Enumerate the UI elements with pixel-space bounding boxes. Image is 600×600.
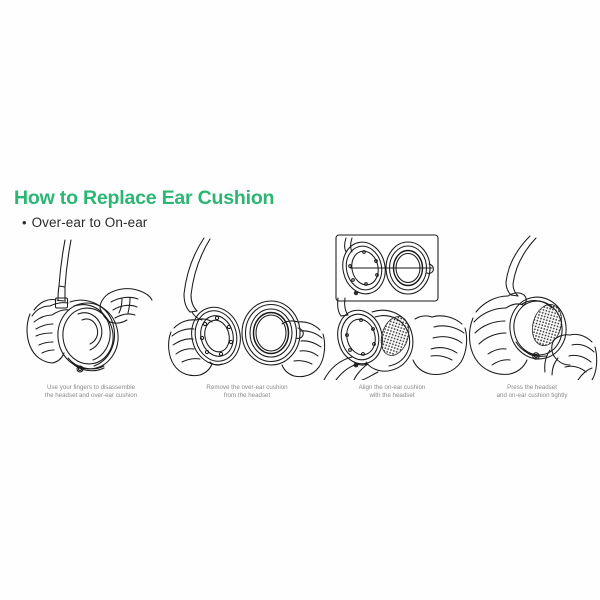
step-1-caption: Use your fingers to disassemble the head… (12, 384, 170, 401)
step-1: Use your fingers to disassemble the head… (12, 232, 170, 422)
step-2-caption-line-2: from the headset (168, 392, 326, 400)
page-canvas: How to Replace Ear Cushion • Over-ear to… (0, 0, 600, 600)
steps-row: Use your fingers to disassemble the head… (0, 232, 600, 422)
inset-detail (336, 235, 438, 301)
step-2-caption-line-1: Remove the over-ear cushion (168, 384, 326, 392)
step-2-caption: Remove the over-ear cushion from the hea… (168, 384, 326, 401)
step-2: Remove the over-ear cushion from the hea… (168, 232, 326, 422)
step-4-caption-line-2: and on-ear cushion tightly (466, 392, 598, 400)
step-4-caption-line-1: Press the headset (466, 384, 598, 392)
bullet-item-over-ear-to-on-ear: • Over-ear to On-ear (22, 215, 147, 230)
bullet-dot-icon: • (22, 216, 27, 229)
step-4-caption: Press the headset and on-ear cushion tig… (466, 384, 598, 401)
step-3-caption-line-1: Align the on-ear cushion (316, 384, 468, 392)
step-2-illustration (168, 232, 326, 380)
step-1-caption-line-1: Use your fingers to disassemble (12, 384, 170, 392)
step-4-illustration (466, 232, 598, 380)
step-1-caption-line-2: the headset and over-ear cushion (12, 392, 170, 400)
page-title: How to Replace Ear Cushion (14, 187, 274, 210)
step-3-illustration (316, 232, 468, 380)
bullet-item-label: Over-ear to On-ear (32, 215, 148, 230)
step-3-caption: Align the on-ear cushion with the headse… (316, 384, 468, 401)
step-4: Press the headset and on-ear cushion tig… (466, 232, 598, 422)
step-3-caption-line-2: with the headset (316, 392, 468, 400)
step-1-illustration (12, 232, 170, 380)
step-3: Align the on-ear cushion with the headse… (316, 232, 468, 422)
